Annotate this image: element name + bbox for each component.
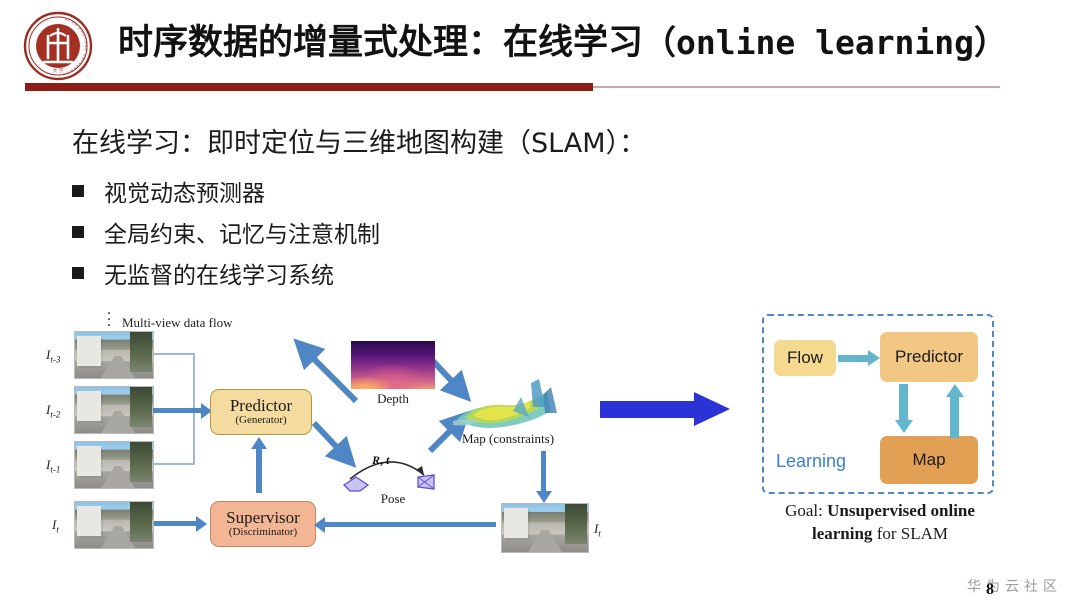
online-learning-loop-figure: Flow Predictor Map Learning Goal: Unsupe… [762,314,1008,564]
map-caption: Map (constraints) [424,431,592,447]
frame-road-shape [101,526,135,548]
frame-label-sub: t [598,529,601,539]
input-frame-label: It [52,517,59,535]
frame-road-shape [101,411,135,433]
depth-caption: Depth [351,391,435,407]
bullet-item: 全局约束、记忆与注意机制 [72,215,380,249]
frame-label-sub: t-1 [50,465,60,475]
arrow-frames-to-predictor [153,408,203,413]
node-supervisor[interactable]: Supervisor (Discriminator) [210,501,316,547]
goal-bold-line1: Unsupervised online [827,501,975,520]
arrow-head-icon [196,516,207,532]
node-map-right[interactable]: Map [880,436,978,484]
arrow-head-icon [895,420,913,433]
frame-label-sub: t [56,525,59,535]
output-frame-image [501,503,589,553]
bullet-item: 无监督的在线学习系统 [72,256,334,290]
frame-road-shape [101,466,135,488]
node-predictor-sub: (Generator) [235,415,286,427]
arrow-flow-to-predictor [838,355,870,362]
node-supervisor-title: Supervisor [226,509,300,527]
arrow-head-icon [868,350,880,366]
input-frame-image [74,501,154,549]
arrow-map-to-frame [541,451,546,493]
slide-header: XI'AN JIAOTONG UNIVERSITY 大 学 时序数据的增量式处理… [0,0,1080,96]
arrow-head-icon [314,517,325,533]
arrow-map-to-predictor [950,396,959,438]
input-frame-label: It-3 [46,347,60,365]
frame-label-sub: t-2 [50,410,60,420]
arrow-frame-to-supervisor-feedback [324,522,496,527]
arrow-head-icon [694,392,730,426]
arrow-shaft [600,401,696,418]
node-flow[interactable]: Flow [774,340,836,376]
svg-text:大 学: 大 学 [53,67,64,74]
node-predictor-right-label: Predictor [895,347,963,367]
input-frame-label: It-1 [46,457,60,475]
pose-transform-label: R, t [372,453,389,468]
goal-caption: Goal: Unsupervised onlinelearning for SL… [746,500,1014,546]
node-predictor[interactable]: Predictor (Generator) [210,389,312,435]
arrow-currentframe-to-supervisor [154,521,198,526]
pose-diagram-icon [338,445,448,493]
pose-caption: Pose [338,491,448,507]
blue-right-arrow-icon [600,392,730,426]
bullet-square-icon [72,267,84,279]
feed-line [193,353,195,411]
arrow-predictor-to-map [899,384,908,422]
watermark: 华为云社区 [967,576,1062,596]
output-frame-label: It [594,521,601,539]
section-lead-line: 在线学习：即时定位与三维地图构建（SLAM）： [72,121,646,160]
pose-rotation-symbol: R [372,453,380,467]
input-frame-image [74,386,154,434]
page-title-cjk: 时序数据的增量式处理：在线学习 [118,23,643,63]
input-frame-image [74,441,154,489]
feed-line [193,411,195,465]
arrow-head-icon [536,491,552,503]
goal-bold-line2: learning [812,524,872,543]
node-predictor-right[interactable]: Predictor [880,332,978,382]
input-frame-label: It-2 [46,402,60,420]
learning-label: Learning [776,451,846,472]
page-title: 时序数据的增量式处理：在线学习（online learning） [118,14,1048,76]
bullet-square-icon [72,185,84,197]
node-supervisor-sub: (Discriminator) [229,527,297,539]
goal-prefix: Goal: [785,501,827,520]
page-number: 8 [986,581,994,599]
page-title-paren: （online learning） [643,23,1007,62]
multiview-caption: Multi-view data flow [122,315,232,331]
header-rule-thick [25,83,593,91]
vertical-ellipsis-icon: ... [104,307,114,325]
feed-line [153,353,195,355]
pose-translation-symbol: t [386,453,389,467]
bullet-label: 全局约束、记忆与注意机制 [104,215,380,249]
node-flow-label: Flow [787,348,823,368]
frame-label-sub: t-3 [50,355,60,365]
bullet-item: 视觉动态预测器 [72,174,265,208]
slam-pipeline-figure: ... Multi-view data flow It-3 It-2 It-1 … [46,305,666,570]
pose-group: R, t Pose [338,445,448,507]
depth-map-image [351,341,435,389]
bullet-label: 视觉动态预测器 [104,174,265,208]
arrow-supervisor-to-predictor [256,449,262,493]
feed-line [153,463,195,465]
frame-road-shape [101,356,135,378]
university-seal-logo: XI'AN JIAOTONG UNIVERSITY 大 学 [22,10,94,82]
arrow-head-icon [946,384,964,397]
bullet-square-icon [72,226,84,238]
input-frame-image [74,331,154,379]
bullet-label: 无监督的在线学习系统 [104,256,334,290]
node-map-right-label: Map [912,450,945,470]
node-predictor-title: Predictor [230,397,292,415]
frame-road-shape [528,530,562,552]
goal-suffix: for SLAM [872,524,948,543]
arrow-head-icon [251,437,267,449]
